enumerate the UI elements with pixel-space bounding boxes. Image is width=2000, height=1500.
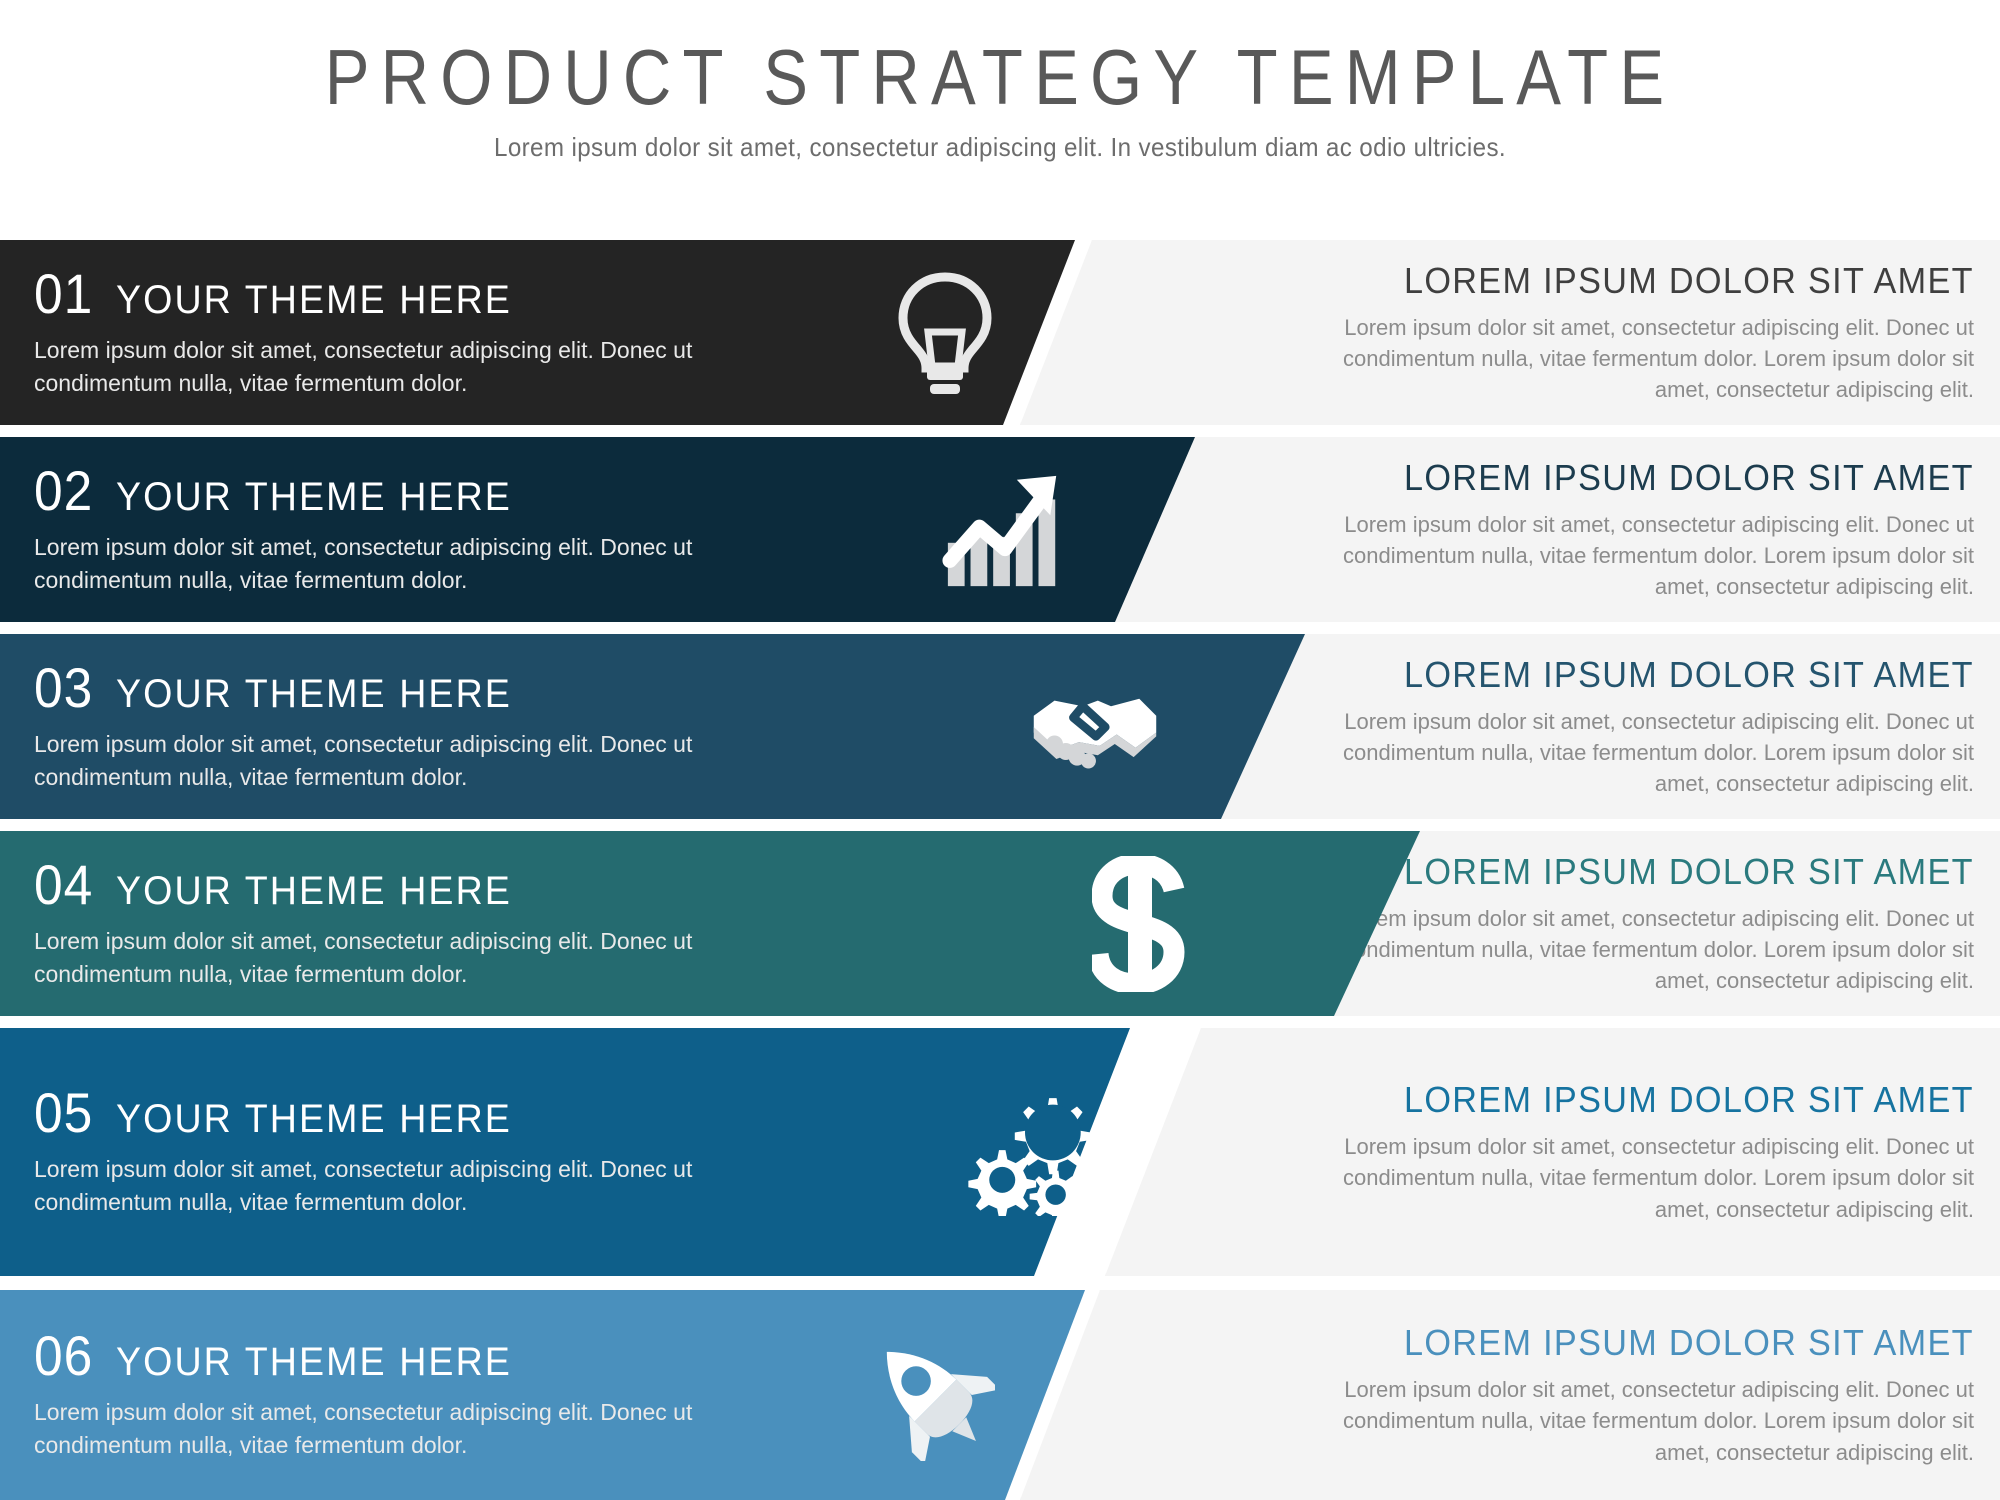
row-detail-body: Lorem ipsum dolor sit amet, consectetur … bbox=[1314, 903, 1974, 997]
row-detail-body: Lorem ipsum dolor sit amet, consectetur … bbox=[1314, 509, 1974, 603]
row-number: 01 bbox=[34, 266, 93, 322]
page-header: PRODUCT STRATEGY TEMPLATE Lorem ipsum do… bbox=[0, 0, 2000, 236]
strategy-row: LOREM IPSUM DOLOR SIT AMETLorem ipsum do… bbox=[0, 1290, 2000, 1500]
strategy-row: LOREM IPSUM DOLOR SIT AMETLorem ipsum do… bbox=[0, 240, 2000, 425]
handshake-icon bbox=[1030, 662, 1160, 792]
row-theme-label: YOUR THEME HERE bbox=[116, 871, 512, 911]
page-title: PRODUCT STRATEGY TEMPLATE bbox=[140, 0, 1860, 116]
row-theme-panel[interactable]: 04YOUR THEME HERELorem ipsum dolor sit a… bbox=[0, 831, 1420, 1016]
row-number: 06 bbox=[34, 1328, 93, 1384]
row-theme-body: Lorem ipsum dolor sit amet, consectetur … bbox=[34, 1396, 734, 1461]
row-detail-title: LOREM IPSUM DOLOR SIT AMET bbox=[1404, 1322, 1974, 1364]
row-number: 04 bbox=[34, 857, 93, 913]
row-number: 03 bbox=[34, 660, 93, 716]
growth-chart-icon bbox=[940, 465, 1070, 595]
row-theme-label: YOUR THEME HERE bbox=[116, 674, 512, 714]
row-detail-title: LOREM IPSUM DOLOR SIT AMET bbox=[1404, 1079, 1974, 1121]
row-detail-panel: LOREM IPSUM DOLOR SIT AMETLorem ipsum do… bbox=[1210, 634, 2000, 819]
row-theme-label: YOUR THEME HERE bbox=[116, 477, 512, 517]
row-theme-label: YOUR THEME HERE bbox=[116, 280, 512, 320]
row-detail-body: Lorem ipsum dolor sit amet, consectetur … bbox=[1314, 312, 1974, 406]
row-detail-title: LOREM IPSUM DOLOR SIT AMET bbox=[1404, 851, 1974, 893]
strategy-row: LOREM IPSUM DOLOR SIT AMETLorem ipsum do… bbox=[0, 1028, 2000, 1276]
dollar-sign-icon bbox=[1075, 859, 1205, 989]
strategy-row: LOREM IPSUM DOLOR SIT AMETLorem ipsum do… bbox=[0, 831, 2000, 1016]
row-detail-panel: LOREM IPSUM DOLOR SIT AMETLorem ipsum do… bbox=[1110, 437, 2000, 622]
strategy-row: LOREM IPSUM DOLOR SIT AMETLorem ipsum do… bbox=[0, 437, 2000, 622]
page-subtitle: Lorem ipsum dolor sit amet, consectetur … bbox=[70, 116, 1930, 163]
row-theme-body: Lorem ipsum dolor sit amet, consectetur … bbox=[34, 1153, 734, 1218]
lightbulb-icon bbox=[880, 268, 1010, 398]
row-number: 02 bbox=[34, 463, 93, 519]
row-theme-body: Lorem ipsum dolor sit amet, consectetur … bbox=[34, 728, 734, 793]
row-detail-body: Lorem ipsum dolor sit amet, consectetur … bbox=[1314, 706, 1974, 800]
row-detail-panel: LOREM IPSUM DOLOR SIT AMETLorem ipsum do… bbox=[1105, 1028, 2000, 1276]
row-theme-body: Lorem ipsum dolor sit amet, consectetur … bbox=[34, 334, 734, 399]
row-detail-title: LOREM IPSUM DOLOR SIT AMET bbox=[1404, 260, 1974, 302]
row-theme-label: YOUR THEME HERE bbox=[116, 1099, 512, 1139]
row-theme-content: 04YOUR THEME HERELorem ipsum dolor sit a… bbox=[0, 831, 1420, 1016]
strategy-row: LOREM IPSUM DOLOR SIT AMETLorem ipsum do… bbox=[0, 634, 2000, 819]
gears-icon bbox=[960, 1087, 1090, 1217]
row-detail-panel: LOREM IPSUM DOLOR SIT AMETLorem ipsum do… bbox=[1020, 1290, 2000, 1500]
row-number: 05 bbox=[34, 1085, 93, 1141]
row-theme-body: Lorem ipsum dolor sit amet, consectetur … bbox=[34, 531, 734, 596]
rocket-icon bbox=[865, 1330, 995, 1460]
row-detail-panel: LOREM IPSUM DOLOR SIT AMETLorem ipsum do… bbox=[1020, 240, 2000, 425]
row-theme-heading: 04YOUR THEME HERE bbox=[34, 857, 1420, 913]
row-detail-body: Lorem ipsum dolor sit amet, consectetur … bbox=[1314, 1374, 1974, 1468]
row-detail-title: LOREM IPSUM DOLOR SIT AMET bbox=[1404, 457, 1974, 499]
row-detail-body: Lorem ipsum dolor sit amet, consectetur … bbox=[1314, 1131, 1974, 1225]
row-theme-body: Lorem ipsum dolor sit amet, consectetur … bbox=[34, 925, 734, 990]
row-detail-title: LOREM IPSUM DOLOR SIT AMET bbox=[1404, 654, 1974, 696]
row-theme-label: YOUR THEME HERE bbox=[116, 1342, 512, 1382]
